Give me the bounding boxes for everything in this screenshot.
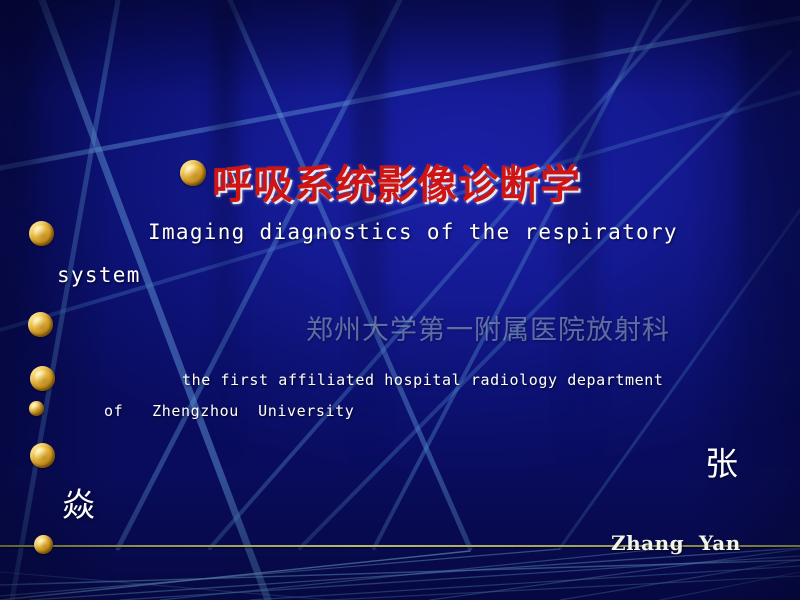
author-name-chinese-surname: 张	[705, 437, 738, 485]
affiliation-english-line-2: of Zhengzhou University	[104, 402, 354, 420]
margin-bullet-2	[28, 312, 53, 337]
margin-bullet-3	[30, 366, 55, 391]
title-bullet	[180, 160, 206, 186]
affiliation-chinese: 郑州大学第一附属医院放射科	[306, 308, 670, 347]
page-title: 呼吸系统影像诊断学	[212, 152, 581, 210]
margin-bullet-6	[34, 535, 53, 554]
margin-bullet-1	[29, 221, 54, 246]
author-name-chinese-given: 焱	[62, 478, 95, 526]
margin-bullet-5	[30, 443, 55, 468]
subtitle-line-2: system	[57, 263, 141, 287]
presentation-slide: 呼吸系统影像诊断学 Imaging diagnostics of the res…	[0, 0, 800, 600]
author-name-english: Zhang Yan	[611, 531, 741, 555]
subtitle-line-1: Imaging diagnostics of the respiratory	[148, 220, 678, 244]
slide-vignette	[0, 0, 800, 600]
margin-bullet-4	[29, 401, 44, 416]
affiliation-english-line-1: the first affiliated hospital radiology …	[182, 371, 664, 389]
